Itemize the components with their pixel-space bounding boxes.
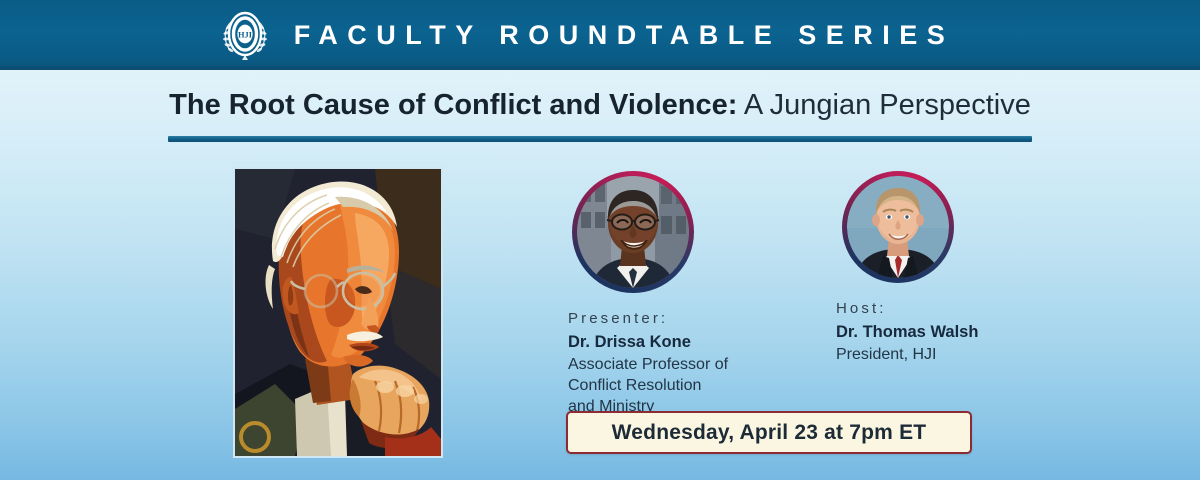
presenter-role-label: Presenter: — [568, 310, 768, 329]
host-role-label: Host: — [836, 300, 1026, 319]
presenter-affiliation-line-1: Associate Professor of — [568, 354, 768, 375]
event-date-text: Wednesday, April 23 at 7pm ET — [612, 421, 927, 445]
header-inner: HJI FACULTY ROUNDTABLE SERIES — [218, 8, 955, 62]
carl-jung-portrait-image — [233, 167, 443, 458]
host-name: Dr. Thomas Walsh — [836, 322, 1026, 344]
event-title: The Root Cause of Conflict and Violence:… — [0, 88, 1200, 122]
header-bar: HJI FACULTY ROUNDTABLE SERIES — [0, 0, 1200, 70]
host-affiliation-line-1: President, HJI — [836, 344, 1026, 365]
faculty-roundtable-promo-banner: HJI FACULTY ROUNDTABLE SERIES The Root C… — [0, 0, 1200, 480]
hji-crest-logo-icon: HJI — [218, 8, 272, 62]
presenter-block: Presenter: Dr. Drissa Kone Associate Pro… — [568, 171, 768, 418]
host-block: Host: Dr. Thomas Walsh President, HJI — [836, 171, 1026, 365]
event-date-banner: Wednesday, April 23 at 7pm ET — [566, 411, 972, 454]
presenter-avatar-photo — [577, 176, 689, 288]
series-title: FACULTY ROUNDTABLE SERIES — [294, 22, 955, 49]
title-divider-rule — [168, 136, 1032, 142]
host-avatar-ring — [842, 171, 954, 283]
host-avatar-photo — [847, 176, 949, 278]
presenter-avatar-ring — [572, 171, 694, 293]
event-title-main: The Root Cause of Conflict and Violence: — [169, 89, 737, 121]
event-title-subtitle: A Jungian Perspective — [737, 89, 1030, 121]
presenter-name: Dr. Drissa Kone — [568, 332, 768, 354]
svg-text:HJI: HJI — [238, 30, 252, 39]
presenter-affiliation-line-2: Conflict Resolution — [568, 375, 768, 396]
